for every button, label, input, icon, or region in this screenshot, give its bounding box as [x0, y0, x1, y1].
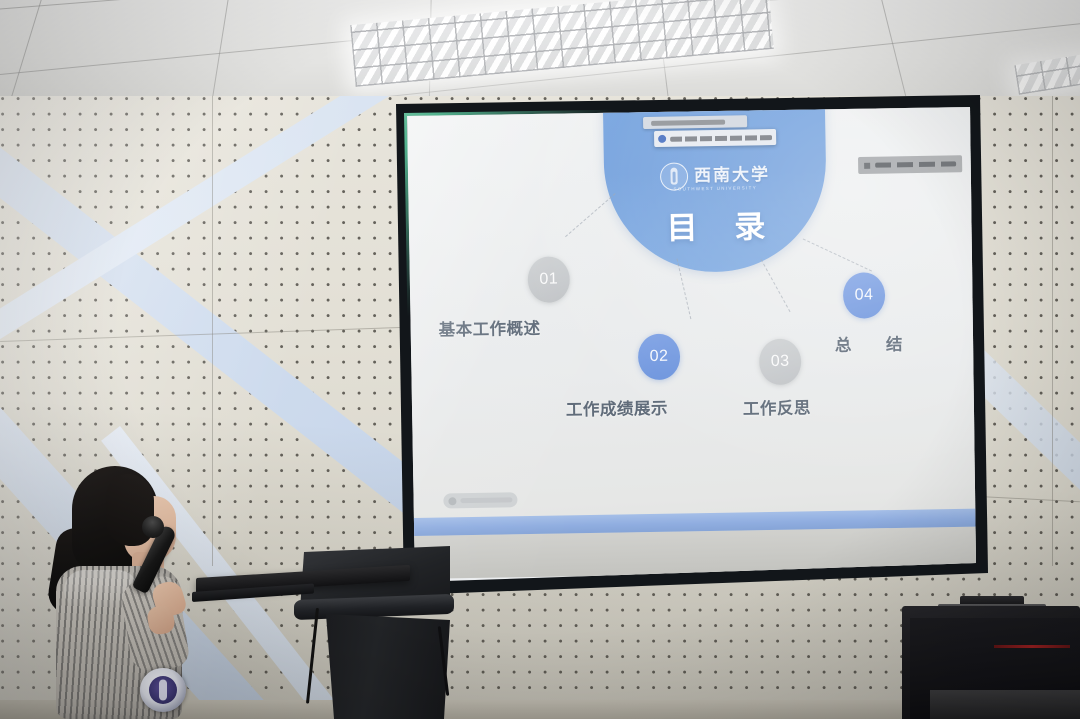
presenter-speaking — [46, 466, 216, 719]
badge-dot-icon — [448, 497, 456, 505]
toc-node-02[interactable]: 02 — [638, 334, 681, 381]
annotation-toolbar-text — [875, 161, 956, 167]
lectern — [196, 548, 454, 719]
floating-toolbar-content — [651, 119, 725, 125]
notification-popup[interactable] — [654, 129, 776, 147]
toc-label-01: 基本工作概述 — [438, 315, 540, 341]
badge-text-placeholder — [460, 497, 512, 503]
projection-screen[interactable]: 西南大学 SOUTHWEST UNIVERSITY 目 录 01 基本工作概述 … — [388, 95, 988, 595]
desk-edge — [930, 690, 1080, 719]
notification-text — [670, 135, 772, 142]
university-name-cn: 西南大学 — [694, 166, 770, 184]
floating-toolbar[interactable] — [643, 115, 747, 129]
slide-title: 目 录 — [605, 200, 828, 249]
university-emblem — [140, 668, 186, 712]
lecture-hall-photo: 西南大学 SOUTHWEST UNIVERSITY 目 录 01 基本工作概述 … — [0, 0, 1080, 719]
wall-panel-seam-v2 — [1052, 96, 1053, 566]
toc-label-02: 工作成绩展示 — [566, 395, 668, 421]
slide-canvas: 西南大学 SOUTHWEST UNIVERSITY 目 录 01 基本工作概述 … — [407, 104, 985, 579]
notification-icon — [658, 135, 666, 143]
lectern-body — [310, 614, 450, 719]
lectern-cable-1 — [306, 608, 319, 704]
toc-node-01[interactable]: 01 — [527, 256, 570, 303]
screen-display-area[interactable]: 西南大学 SOUTHWEST UNIVERSITY 目 录 01 基本工作概述 … — [388, 95, 988, 595]
connector-line-3 — [761, 259, 791, 312]
toc-node-04[interactable]: 04 — [843, 272, 886, 319]
toc-node-03[interactable]: 03 — [759, 339, 802, 386]
monitor-indicator-strip — [994, 645, 1070, 648]
annotation-toolbar[interactable] — [858, 155, 962, 174]
annotation-tool-icon[interactable] — [864, 162, 870, 168]
connector-line-4 — [803, 238, 872, 271]
slide-status-badge[interactable] — [443, 492, 517, 508]
toc-label-03: 工作反思 — [743, 394, 811, 419]
toc-label-04: 总 结 — [835, 331, 912, 356]
